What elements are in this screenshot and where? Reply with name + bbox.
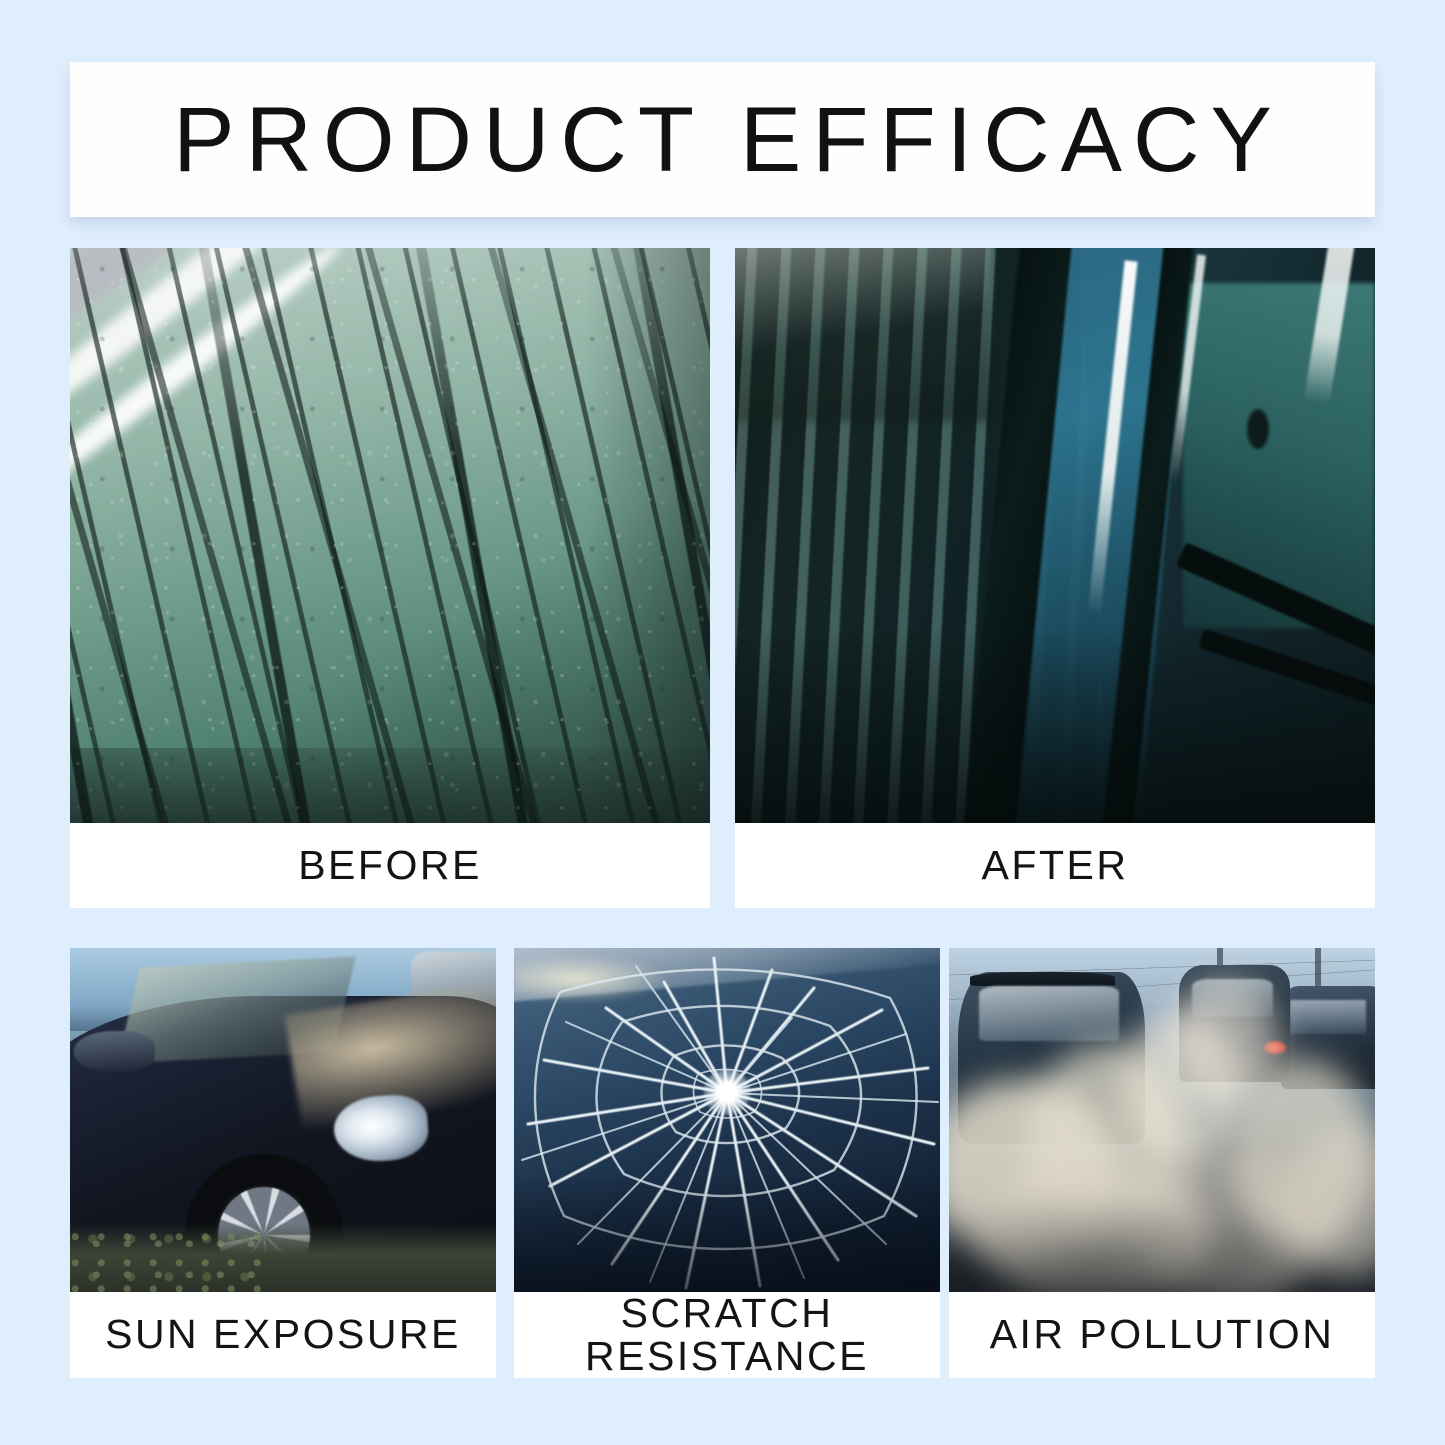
after-caption: AFTER bbox=[735, 823, 1375, 908]
before-label: BEFORE bbox=[298, 844, 482, 887]
shade-right-edge bbox=[586, 248, 710, 823]
sun-exposure-label: SUN EXPOSURE bbox=[105, 1313, 461, 1356]
sun-exposure-photo bbox=[70, 948, 496, 1292]
upper-reflection-haze bbox=[735, 248, 991, 421]
traffic-car-right-glass bbox=[1290, 1000, 1367, 1034]
roof-rails bbox=[970, 972, 1115, 986]
after-label: AFTER bbox=[982, 844, 1129, 887]
page-title-banner: PRODUCT EFFICACY bbox=[70, 62, 1375, 217]
page-title: PRODUCT EFFICACY bbox=[162, 94, 1283, 186]
sun-exposure-caption: SUN EXPOSURE bbox=[70, 1292, 496, 1378]
scratch-resistance-photo bbox=[514, 948, 940, 1292]
shade-bottom-edge bbox=[735, 628, 1375, 824]
washer-nozzle bbox=[1247, 409, 1269, 449]
dark-exhaust-shadow bbox=[949, 1196, 1375, 1292]
traffic-car-front-glass bbox=[979, 986, 1120, 1041]
benefit-tile-scratch-resistance: SCRATCH RESISTANCE bbox=[514, 948, 940, 1378]
scratch-resistance-caption: SCRATCH RESISTANCE bbox=[514, 1292, 940, 1378]
benefit-tile-air-pollution: AIR POLLUTION bbox=[949, 948, 1375, 1378]
after-photo bbox=[735, 248, 1375, 823]
benefit-tile-sun-exposure: SUN EXPOSURE bbox=[70, 948, 496, 1378]
air-pollution-caption: AIR POLLUTION bbox=[949, 1292, 1375, 1378]
comparison-tile-before: BEFORE bbox=[70, 248, 710, 908]
shade-bottom-edge bbox=[70, 748, 710, 824]
roadside-grass bbox=[70, 1216, 266, 1292]
scratch-resistance-label: SCRATCH RESISTANCE bbox=[585, 1292, 869, 1379]
before-photo bbox=[70, 248, 710, 823]
air-pollution-photo bbox=[949, 948, 1375, 1292]
air-pollution-label: AIR POLLUTION bbox=[990, 1313, 1335, 1356]
before-caption: BEFORE bbox=[70, 823, 710, 908]
shade-bottom-edge bbox=[514, 1175, 940, 1292]
side-mirror bbox=[74, 1031, 155, 1072]
comparison-tile-after: AFTER bbox=[735, 248, 1375, 908]
